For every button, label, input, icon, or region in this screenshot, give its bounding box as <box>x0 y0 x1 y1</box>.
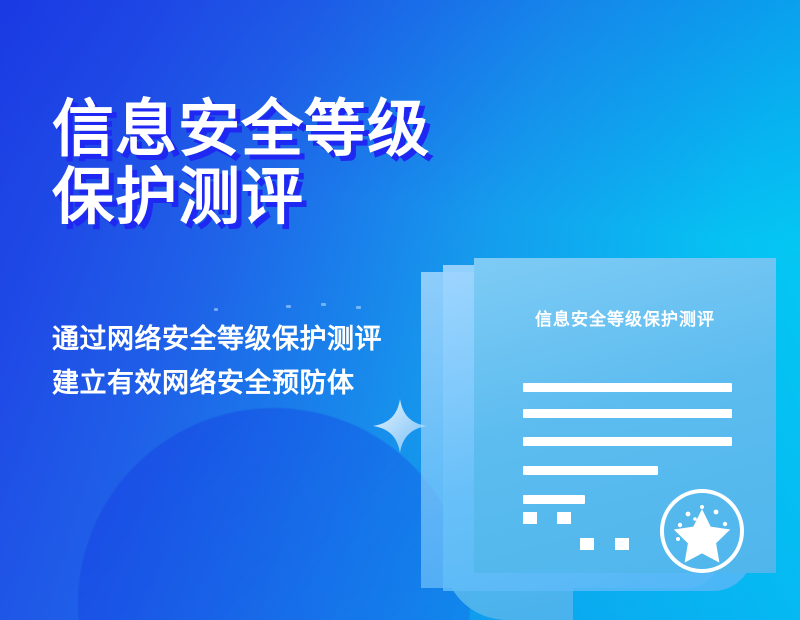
subtitle-line-2: 建立有效网络安全预防体 <box>52 362 382 406</box>
four-point-sparkle-icon <box>372 398 428 454</box>
particle-dot <box>356 306 361 309</box>
promo-banner: 信息安全等级保护测评 <box>0 0 800 620</box>
star-seal-icon <box>658 487 746 575</box>
certificate-content-line <box>523 495 585 504</box>
certificate-mark-square <box>580 538 594 550</box>
particle-dot <box>321 303 326 306</box>
certificate-title: 信息安全等级保护测评 <box>474 305 776 330</box>
certificate-content-line <box>523 409 732 418</box>
particle-dot <box>286 305 291 308</box>
certificate-content-line <box>523 437 732 446</box>
subtitle-line-1: 通过网络安全等级保护测评 <box>52 318 382 362</box>
headline-line-1: 信息安全等级 <box>52 96 430 164</box>
certificate-mark-square <box>557 512 571 524</box>
right-edge-sliver <box>776 0 800 620</box>
certificate-mark-square <box>615 538 629 550</box>
certificate-content-line <box>523 466 658 475</box>
page-title: 信息安全等级 保护测评 <box>52 96 430 231</box>
certificate-content-line <box>523 383 732 392</box>
page-subtitle: 通过网络安全等级保护测评 建立有效网络安全预防体 <box>52 318 382 405</box>
particle-dot <box>214 308 218 311</box>
headline-line-2: 保护测评 <box>52 164 430 232</box>
certificate-mark-square <box>523 512 537 524</box>
